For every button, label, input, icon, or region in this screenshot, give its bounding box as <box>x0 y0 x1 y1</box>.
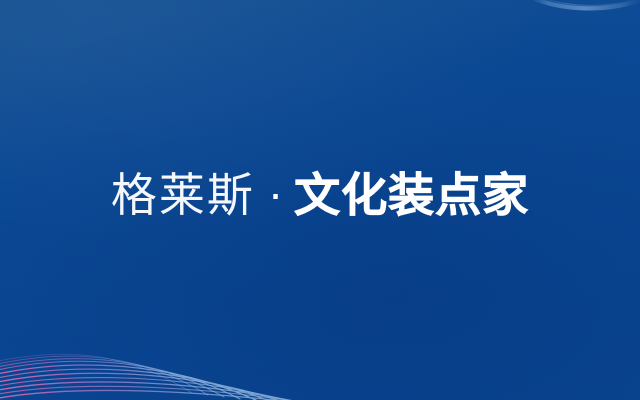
separator-dot: · <box>255 170 294 216</box>
tagline: 文化装点家 <box>294 172 529 218</box>
headline-container: 格莱斯 · 文化装点家 <box>0 0 640 400</box>
slide-canvas: 格莱斯 · 文化装点家 <box>0 0 640 400</box>
brand-name: 格莱斯 <box>111 172 255 218</box>
headline: 格莱斯 · 文化装点家 <box>111 172 529 218</box>
